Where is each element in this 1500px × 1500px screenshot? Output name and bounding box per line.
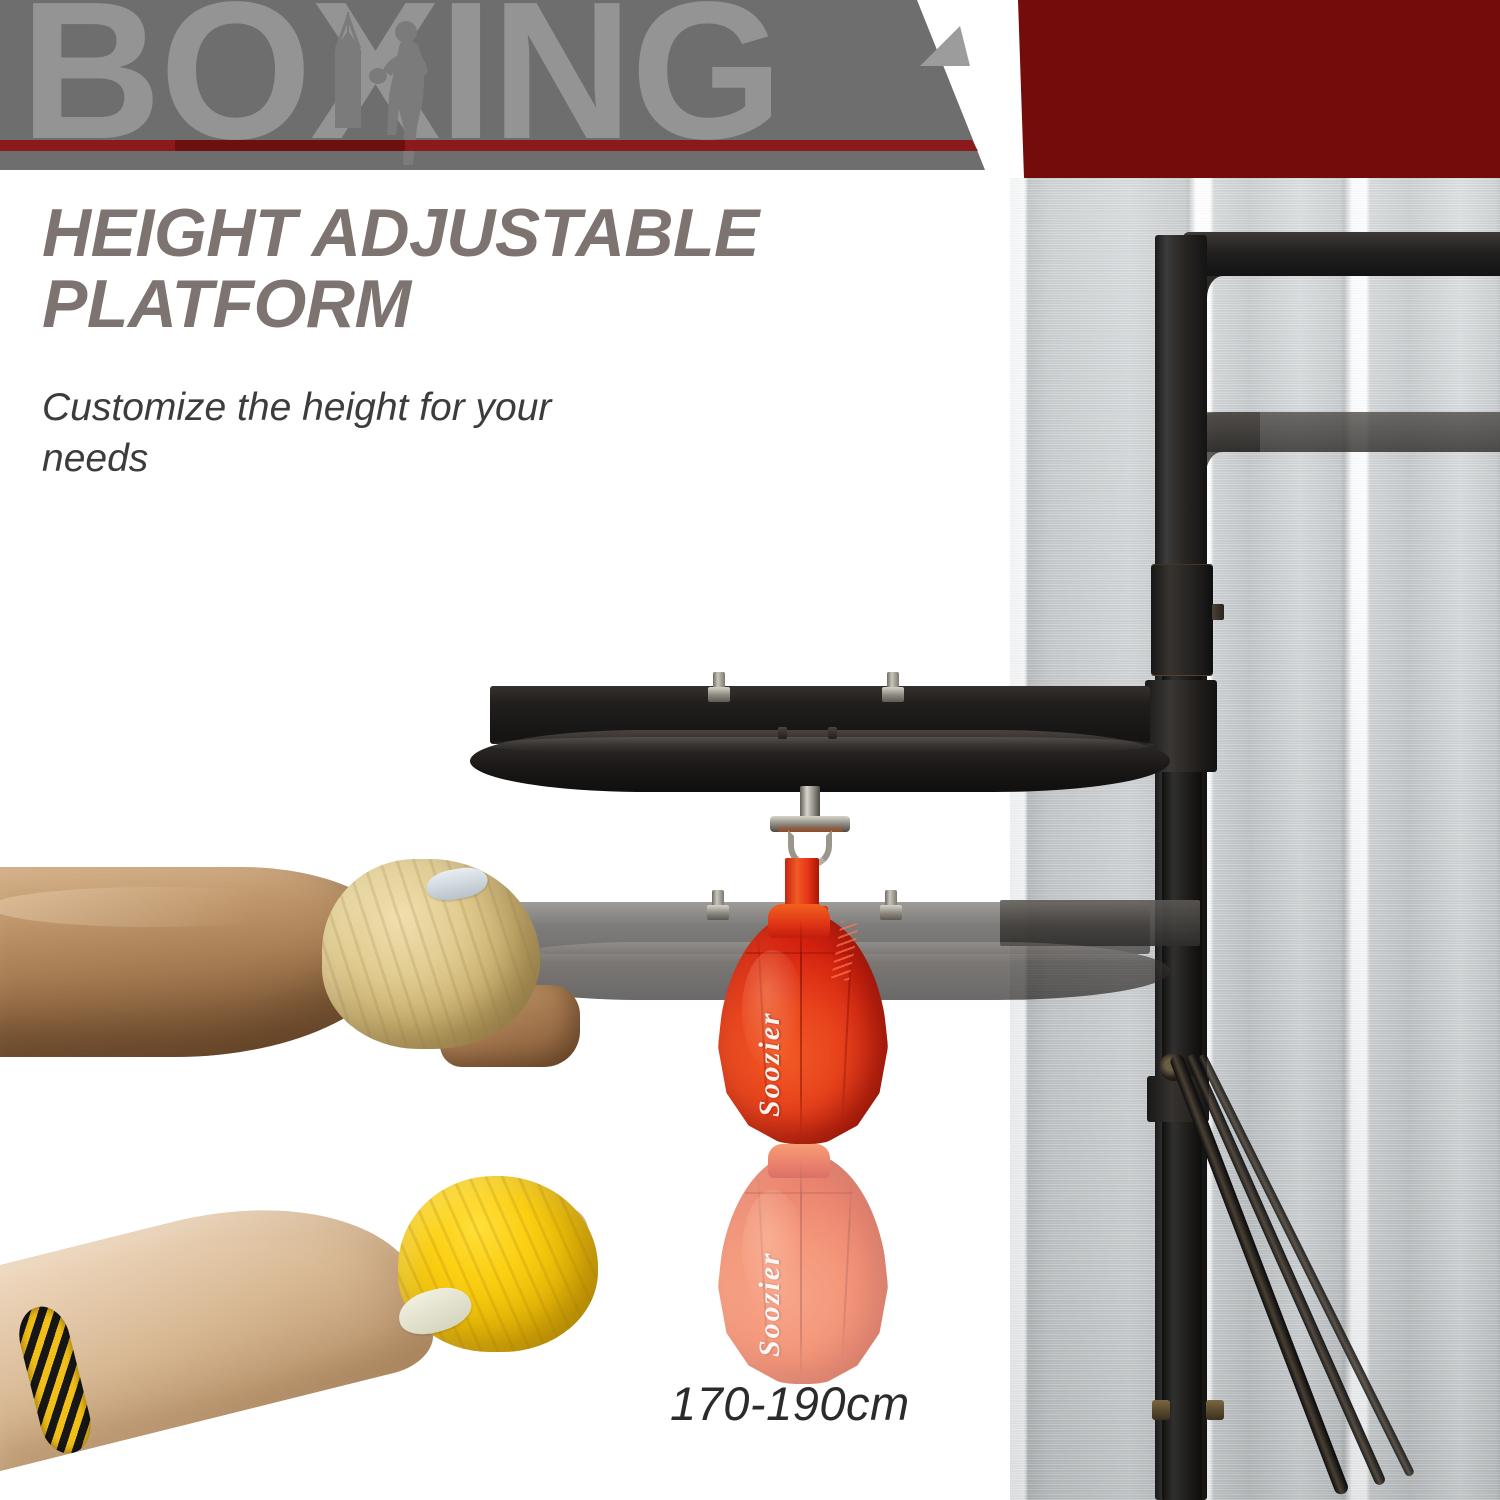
header-accent-line-shadow <box>175 140 405 151</box>
platform-bolt <box>882 672 904 702</box>
platform-disc-upper <box>470 672 1170 792</box>
page-title: HEIGHT ADJUSTABLE PLATFORM <box>42 198 972 339</box>
frame-foot-bolt <box>1152 1400 1170 1420</box>
speed-bag-neck <box>768 904 830 938</box>
speed-bag-seam-ghost <box>800 1158 802 1378</box>
page-title-line1: HEIGHT ADJUSTABLE <box>42 198 972 269</box>
speed-bag-body-ghost <box>718 1152 888 1384</box>
product-feature-image: Soozier Soozier BOXING <box>0 0 1500 1500</box>
platform-bolt-lower <box>880 890 902 920</box>
speed-bag-neck-ghost <box>768 1144 830 1178</box>
header-banner: BOXING <box>0 0 1500 182</box>
page-subtitle: Customize the height for your needs <box>42 382 642 485</box>
boxer-arm-upper <box>0 845 530 1075</box>
platform-bolt-lower <box>707 890 729 920</box>
platform-nub <box>828 727 837 739</box>
height-range-callout: 170-190cm <box>670 1376 910 1431</box>
frame-foot-bolt <box>1206 1400 1224 1420</box>
speed-bag-seam-ghost <box>745 1192 853 1194</box>
platform-nub <box>778 727 787 739</box>
platform-bolt <box>708 672 730 702</box>
page-title-line2: PLATFORM <box>42 269 972 340</box>
brand-logo: Soozier <box>753 967 797 1117</box>
header-accent-line <box>0 140 1000 151</box>
speed-bag-seam <box>800 918 802 1138</box>
brand-logo-ghost: Soozier <box>753 1207 797 1357</box>
platform-top <box>470 730 1170 792</box>
swivel-post <box>800 786 820 820</box>
